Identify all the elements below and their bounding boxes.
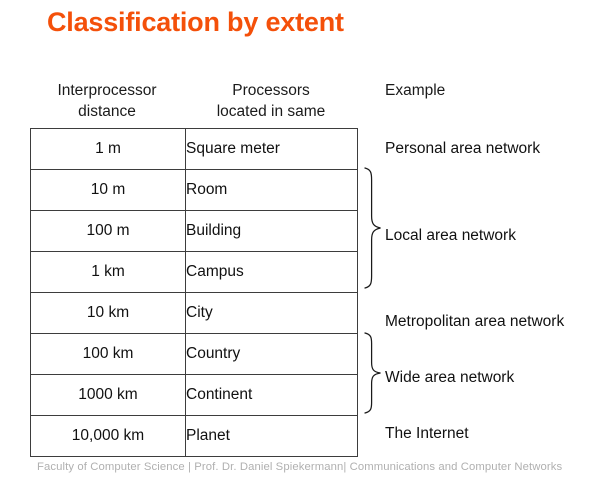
table-row: 1 m Square meter	[31, 129, 358, 170]
cell-distance: 1 m	[31, 129, 186, 170]
cell-location: Building	[186, 211, 358, 252]
cell-distance: 100 m	[31, 211, 186, 252]
cell-location: Planet	[186, 416, 358, 457]
table-row: 10 km City	[31, 293, 358, 334]
cell-distance: 10 m	[31, 170, 186, 211]
table-body: 1 m Square meter 10 m Room 100 m Buildin…	[31, 129, 358, 457]
slide-footer: Faculty of Computer Science | Prof. Dr. …	[37, 461, 562, 473]
page-title: Classification by extent	[47, 7, 344, 38]
cell-distance: 10,000 km	[31, 416, 186, 457]
table-row: 100 m Building	[31, 211, 358, 252]
cell-distance: 100 km	[31, 334, 186, 375]
column-header-distance-line1: Interprocessor	[30, 80, 184, 101]
example-label-metropolitan-area-network: Metropolitan area network	[385, 313, 564, 331]
cell-location: Country	[186, 334, 358, 375]
column-header-example: Example	[385, 80, 565, 101]
table-row: 1 km Campus	[31, 252, 358, 293]
example-label-the-internet: The Internet	[385, 425, 469, 443]
cell-location: Continent	[186, 375, 358, 416]
cell-distance: 1000 km	[31, 375, 186, 416]
example-label-local-area-network: Local area network	[385, 227, 516, 245]
classification-by-extent-table: 1 m Square meter 10 m Room 100 m Buildin…	[30, 128, 358, 457]
column-header-processors-line1: Processors	[185, 80, 357, 101]
cell-location: Square meter	[186, 129, 358, 170]
table-row: 10,000 km Planet	[31, 416, 358, 457]
example-label-personal-area-network: Personal area network	[385, 140, 540, 158]
cell-distance: 1 km	[31, 252, 186, 293]
cell-location: Room	[186, 170, 358, 211]
example-label-wide-area-network: Wide area network	[385, 369, 514, 387]
column-header-distance-line2: distance	[30, 101, 184, 122]
column-header-processors-located-in-same: Processors located in same	[185, 80, 357, 122]
table-row: 100 km Country	[31, 334, 358, 375]
curly-brace-icon-local-area-network	[362, 167, 384, 294]
table-row: 1000 km Continent	[31, 375, 358, 416]
column-header-interprocessor-distance: Interprocessor distance	[30, 80, 184, 122]
curly-brace-icon-wide-area-network	[362, 332, 384, 419]
table-row: 10 m Room	[31, 170, 358, 211]
column-header-processors-line2: located in same	[185, 101, 357, 122]
cell-location: Campus	[186, 252, 358, 293]
cell-distance: 10 km	[31, 293, 186, 334]
cell-location: City	[186, 293, 358, 334]
